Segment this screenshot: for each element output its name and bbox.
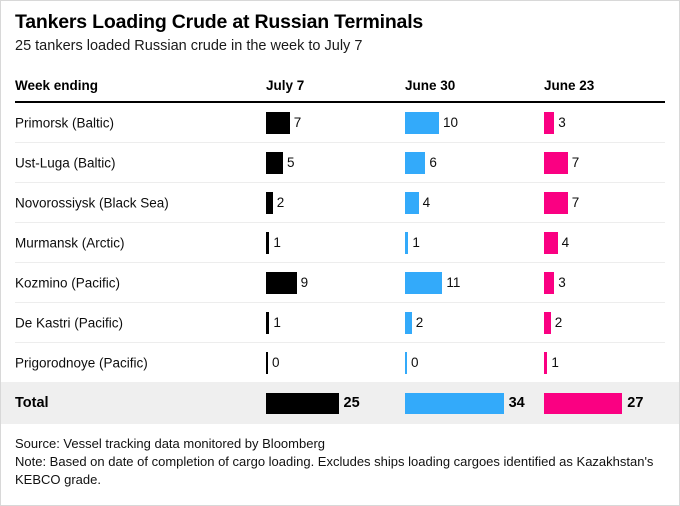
bar [266,272,297,294]
bar-value: 3 [558,275,566,290]
bar [544,152,568,174]
bar-value: 9 [301,275,309,290]
row-label: Murmansk (Arctic) [15,235,125,250]
bar-value: 1 [551,355,559,370]
bar [405,152,425,174]
bar [544,112,554,134]
bar-value: 5 [287,155,295,170]
bar-cell: 2 [266,183,284,222]
bar [266,312,269,334]
total-value: 25 [344,395,360,411]
bar [544,352,547,374]
bar-value: 6 [429,155,437,170]
footer-note: Note: Based on date of completion of car… [15,453,665,489]
page-subtitle: 25 tankers loaded Russian crude in the w… [15,36,665,57]
table-row: Kozmino (Pacific)9113 [15,263,665,303]
column-header-june-30: June 30 [405,78,455,93]
bar [266,192,273,214]
chart-header: Tankers Loading Crude at Russian Termina… [1,1,679,57]
total-value: 34 [509,395,525,411]
table-body: Primorsk (Baltic)7103Ust-Luga (Baltic)56… [15,103,665,382]
bar-cell: 7 [544,143,579,182]
bar [405,232,408,254]
total-label: Total [15,395,49,411]
total-bar-cell: 25 [266,382,360,424]
page-title: Tankers Loading Crude at Russian Termina… [15,10,665,34]
bar-value: 3 [558,115,566,130]
table-row: Prigorodnoye (Pacific)001 [15,343,665,382]
row-label: Novorossiysk (Black Sea) [15,195,169,210]
bar-value: 7 [294,115,302,130]
bar [405,112,439,134]
row-label: De Kastri (Pacific) [15,315,123,330]
table-header-row: Week ending July 7 June 30 June 23 [15,78,665,103]
column-header-week-ending: Week ending [15,78,98,93]
bar [266,112,290,134]
bar-cell: 1 [266,303,281,342]
bar-cell: 1 [544,343,559,382]
total-bar-cell: 34 [405,382,525,424]
bar [544,272,554,294]
table-row: Murmansk (Arctic)114 [15,223,665,263]
bar-cell: 4 [544,223,569,262]
bar [405,352,407,374]
bar-cell: 4 [405,183,430,222]
column-header-july-7: July 7 [266,78,304,93]
bar-cell: 1 [405,223,420,262]
row-label: Kozmino (Pacific) [15,275,120,290]
total-bar [266,393,339,414]
bar [266,352,268,374]
column-header-june-23: June 23 [544,78,594,93]
row-label: Primorsk (Baltic) [15,115,114,130]
bar-value: 2 [555,315,563,330]
bar-value: 7 [572,155,580,170]
bar-cell: 11 [405,263,460,302]
total-bar-cell: 27 [544,382,643,424]
bar-cell: 2 [544,303,562,342]
total-value: 27 [627,395,643,411]
bar-cell: 7 [544,183,579,222]
bar-value: 4 [562,235,570,250]
bar-cell: 3 [544,103,566,142]
row-label: Ust-Luga (Baltic) [15,155,116,170]
bar-cell: 5 [266,143,295,182]
table-row: Ust-Luga (Baltic)567 [15,143,665,183]
total-bar [544,393,622,414]
bar-value: 11 [446,275,460,290]
bar-cell: 9 [266,263,308,302]
bar-value: 2 [277,195,285,210]
chart-container: Tankers Loading Crude at Russian Termina… [0,0,680,506]
table-row: Primorsk (Baltic)7103 [15,103,665,143]
bar-value: 1 [273,315,281,330]
data-table: Week ending July 7 June 30 June 23 Primo… [1,78,679,382]
bar-value: 0 [272,355,280,370]
bar-cell: 0 [266,343,280,382]
table-total-row: Total 253427 [1,382,679,424]
row-label: Prigorodnoye (Pacific) [15,355,148,370]
bar [544,232,558,254]
bar [405,192,419,214]
bar-cell: 10 [405,103,458,142]
bar-value: 4 [423,195,431,210]
table-row: De Kastri (Pacific)122 [15,303,665,343]
bar-cell: 1 [266,223,281,262]
bar-cell: 6 [405,143,437,182]
bar-cell: 2 [405,303,423,342]
bar-value: 10 [443,115,458,130]
bar [266,232,269,254]
chart-footer: Source: Vessel tracking data monitored b… [1,424,679,489]
bar-cell: 7 [266,103,301,142]
bar [405,312,412,334]
bar-cell: 0 [405,343,419,382]
bar-cell: 3 [544,263,566,302]
bar [544,192,568,214]
table-row: Novorossiysk (Black Sea)247 [15,183,665,223]
bar-value: 1 [412,235,420,250]
bar [266,152,283,174]
footer-source: Source: Vessel tracking data monitored b… [15,435,665,453]
total-bar [405,393,504,414]
bar [544,312,551,334]
bar-value: 7 [572,195,580,210]
bar-value: 0 [411,355,419,370]
bar [405,272,442,294]
bar-value: 1 [273,235,281,250]
bar-value: 2 [416,315,424,330]
